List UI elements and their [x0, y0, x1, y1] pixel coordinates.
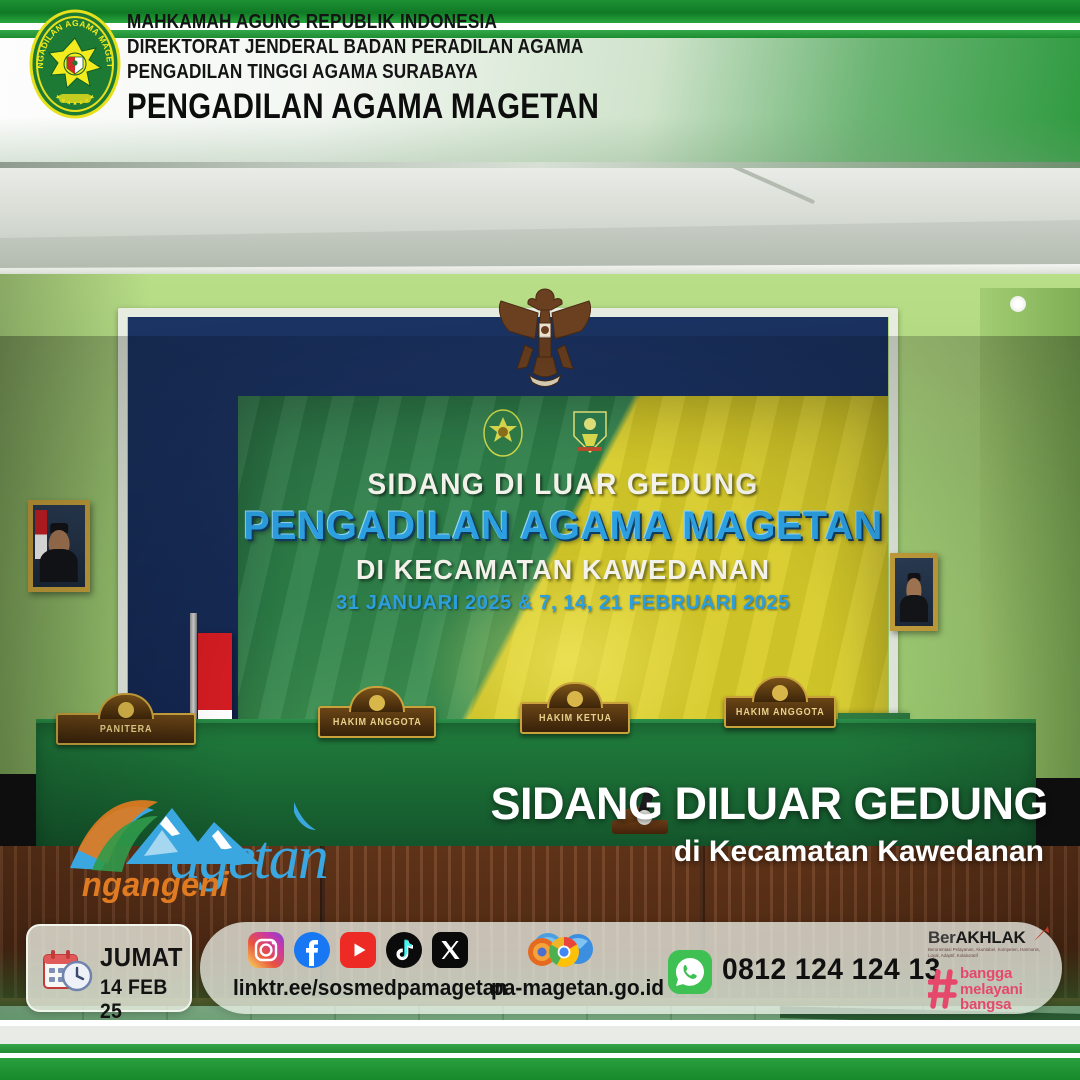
- header-title: PENGADILAN AGAMA MAGETAN: [127, 87, 599, 127]
- pengadilan-agama-emblem-icon: [481, 408, 525, 458]
- wall-right: [980, 288, 1080, 778]
- garuda-pancasila-emblem-icon: [495, 283, 595, 393]
- nameplate-hakim-anggota-1: HAKIM ANGGOTA: [318, 706, 436, 738]
- banner-line-2: PENGADILAN AGAMA MAGETAN: [241, 504, 885, 549]
- whatsapp-icon[interactable]: [668, 950, 712, 994]
- berakhlak-swoosh-icon: [1032, 924, 1052, 944]
- youtube-icon[interactable]: [340, 932, 376, 968]
- bangga-melayani-bangsa-logo: bangga melayani bangsa: [928, 966, 1058, 1014]
- x-twitter-icon[interactable]: [432, 932, 468, 968]
- banner-line-4: 31 JANUARI 2025 & 7, 14, 21 FEBRUARI 202…: [238, 592, 888, 615]
- bangga-line-3: bangsa: [960, 997, 1023, 1013]
- poster-title: SIDANG DILUAR GEDUNG: [490, 778, 1048, 830]
- berakhlak-ber: Ber: [928, 928, 955, 947]
- whatsapp-number[interactable]: 0812 124 124 13: [722, 953, 941, 987]
- social-link-label[interactable]: linktr.ee/sosmedpamagetan: [233, 975, 507, 1001]
- calendar-clock-icon: [42, 948, 94, 992]
- website-label[interactable]: pa-magetan.go.id: [491, 975, 664, 1001]
- nameplate-label: PANITERA: [100, 724, 153, 735]
- bangga-line-1: bangga: [960, 966, 1023, 982]
- header-line-2: DIREKTORAT JENDERAL BADAN PERADILAN AGAM…: [127, 35, 610, 60]
- suit: [900, 595, 928, 622]
- bottom-light-band: [0, 1026, 1080, 1044]
- ceiling-light: [1010, 296, 1026, 312]
- bottom-green-bar: [0, 1058, 1080, 1080]
- header-line-3: PENGADILAN TINGGI AGAMA SURABAYA: [127, 60, 610, 85]
- pengadilan-agama-magetan-seal-icon: PENGADILAN AGAMA MAGETAN ★ ★ ★ ★ ★ ★ ★: [28, 8, 122, 120]
- portrait-image: [895, 558, 933, 626]
- portrait-vice-president: [890, 553, 938, 631]
- berakhlak-logo: BerAKHLAK Berorientasi Pelayanan, Akunta…: [928, 928, 1050, 962]
- berakhlak-tagline: Berorientasi Pelayanan, Akuntabel, Kompe…: [928, 947, 1046, 959]
- berakhlak-title: BerAKHLAK: [928, 928, 1025, 948]
- tiktok-icon[interactable]: [386, 932, 422, 968]
- poster-subtitle: di Kecamatan Kawedanan: [674, 835, 1044, 869]
- facebook-icon[interactable]: [294, 932, 330, 968]
- poster-canvas: PENGADILAN AGAMA MAGETAN ★ ★ ★ ★ ★ ★ ★ M…: [0, 0, 1080, 1080]
- nameplate-label: HAKIM KETUA: [539, 713, 612, 724]
- bangga-lines: bangga melayani bangsa: [960, 966, 1023, 1013]
- nameplate-label: HAKIM ANGGOTA: [736, 707, 825, 718]
- date-value: 14 FEB 25: [100, 976, 183, 1024]
- bangga-line-2: melayani: [960, 982, 1023, 998]
- hashtag-icon: [928, 968, 958, 1010]
- kabupaten-magetan-emblem-icon: [568, 406, 612, 456]
- web-browsers-icon: [520, 932, 610, 970]
- portrait-president: [28, 500, 90, 592]
- nameplate-panitera: PANITERA: [56, 713, 196, 745]
- nameplate-hakim-ketua: HAKIM KETUA: [520, 702, 630, 734]
- instagram-icon[interactable]: [248, 932, 284, 968]
- nameplate-hakim-anggota-2: HAKIM ANGGOTA: [724, 696, 836, 728]
- suit: [40, 549, 78, 582]
- header-line-1: MAHKAMAH AGUNG REPUBLIK INDONESIA: [127, 10, 610, 35]
- portrait-image: [33, 505, 85, 587]
- bottom-green-line: [0, 1044, 1080, 1053]
- banner-line-1: SIDANG DI LUAR GEDUNG: [258, 468, 869, 502]
- banner-line-3: DI KECAMATAN KAWEDANAN: [251, 554, 875, 586]
- berakhlak-akhlak: AKHLAK: [955, 928, 1025, 947]
- date-day-label: JUMAT: [100, 942, 183, 973]
- nameplate-label: HAKIM ANGGOTA: [333, 717, 422, 728]
- header-text-block: MAHKAMAH AGUNG REPUBLIK INDONESIA DIREKT…: [127, 10, 689, 127]
- date-badge: JUMAT 14 FEB 25: [26, 924, 192, 1012]
- social-icon-row[interactable]: [248, 932, 468, 968]
